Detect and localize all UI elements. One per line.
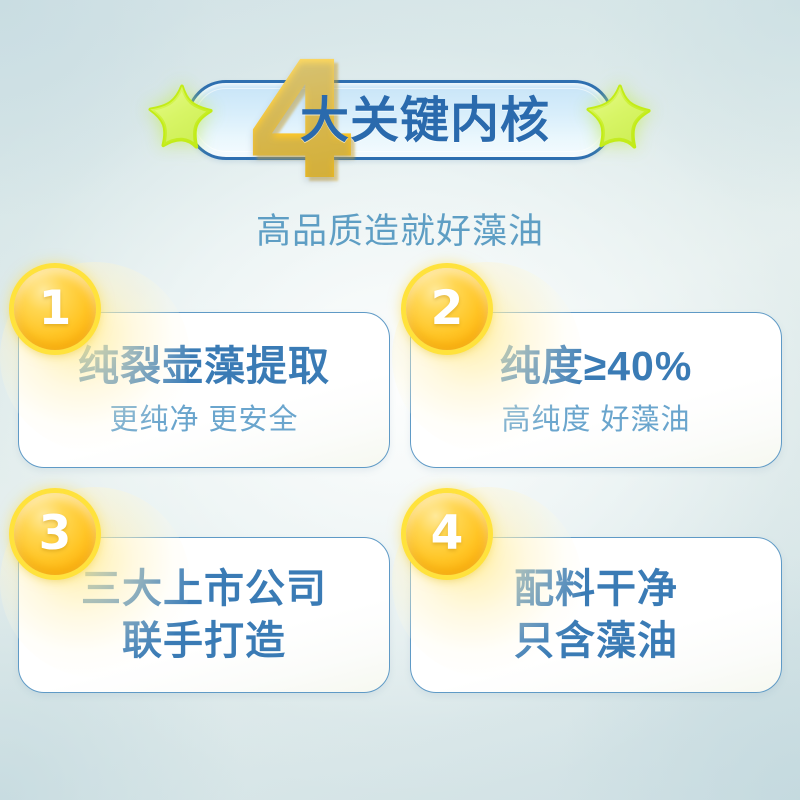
card-title-line-2: 联手打造 xyxy=(122,615,286,667)
card-number-badge: 4 xyxy=(406,493,488,575)
card-number-label: 2 xyxy=(431,285,464,332)
card-title-line-2: 只含藻油 xyxy=(514,615,678,667)
feature-card-1: 纯裂壶藻提取 更纯净 更安全 1 xyxy=(4,268,394,483)
card-subtitle: 高纯度 好藻油 xyxy=(501,396,690,438)
card-title-line-1: 三大上市公司 xyxy=(81,563,327,615)
feature-card-4: 配料干净 只含藻油 4 xyxy=(396,493,786,708)
header-title: 大关键内核 xyxy=(300,90,600,152)
card-title-line-1: 配料干净 xyxy=(514,563,678,615)
card-number-label: 1 xyxy=(39,285,72,332)
card-title: 纯裂壶藻提取 xyxy=(78,342,330,390)
card-number-badge: 3 xyxy=(14,493,96,575)
card-subtitle: 更纯净 更安全 xyxy=(109,396,298,438)
header-banner: 4 4 大关键内核 xyxy=(0,52,800,182)
card-number-label: 3 xyxy=(39,510,72,557)
feature-card-3: 三大上市公司 联手打造 3 xyxy=(4,493,394,708)
promo-poster: 4 4 大关键内核 高品质造就好藻油 纯裂壶藻提取 更纯净 更安全 1 纯度≥4… xyxy=(0,0,800,800)
card-number-badge: 2 xyxy=(406,268,488,350)
feature-card-grid: 纯裂壶藻提取 更纯净 更安全 1 纯度≥40% 高纯度 好藻油 2 xyxy=(0,268,800,708)
card-number-badge: 1 xyxy=(14,268,96,350)
card-title: 纯度≥40% xyxy=(500,342,693,390)
star-icon-left xyxy=(146,82,218,154)
header-subtitle: 高品质造就好藻油 xyxy=(0,203,800,254)
card-number-label: 4 xyxy=(431,510,464,557)
feature-card-2: 纯度≥40% 高纯度 好藻油 2 xyxy=(396,268,786,483)
